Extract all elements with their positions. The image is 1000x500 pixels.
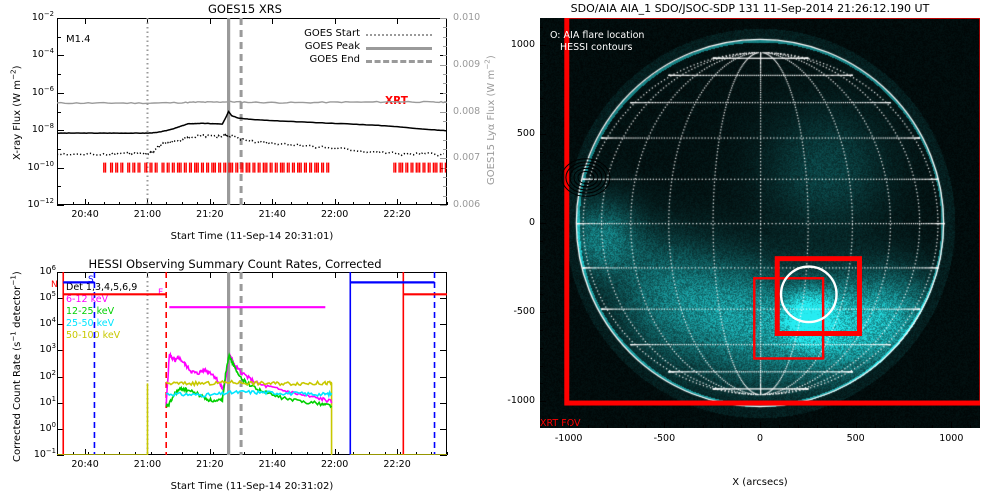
hessi-x-tick-label-0: 20:40 <box>61 459 109 470</box>
sun-y-tick-label-2: 0 <box>490 217 535 228</box>
sun-x-tick-minor <box>760 425 761 428</box>
hessi-contours-annotation: HESSI contours <box>560 42 633 53</box>
goes-x-tick-minor <box>447 202 448 205</box>
hessi-x-axis-label: Start Time (11-Sep-14 20:31:02) <box>57 481 447 492</box>
sun-x-tick-minor <box>588 425 589 428</box>
sun-y-tick-minor <box>540 366 543 367</box>
goes-y-axis-label: X-ray Flux (W m−2) <box>12 66 23 161</box>
sun-x-tick-minor <box>722 425 723 428</box>
goes-x-tick-label-1: 21:00 <box>123 209 171 220</box>
sun-x-tick-label-3: 500 <box>826 433 886 444</box>
sun-x-tick-minor <box>875 425 876 428</box>
goes-x-tick-label-5: 22:20 <box>373 209 421 220</box>
hessi-x-tick-label-4: 22:00 <box>311 459 359 470</box>
sdo-panel-title: SDO/AIA AIA_1 SDO/JSOC-SDP 131 11-Sep-20… <box>500 2 1000 15</box>
hessi-panel: HESSI Observing Summary Count Rates, Cor… <box>0 250 490 500</box>
goes-right-y-tick-label-1: 0.009 <box>453 59 480 70</box>
goes-right-y-tick-label-2: 0.008 <box>453 106 480 117</box>
hessi-panel-title: HESSI Observing Summary Count Rates, Cor… <box>0 257 470 271</box>
figure-root: GOES15 XRS 10−210−410−610−810−1010−12 0.… <box>0 0 1000 500</box>
sun-x-tick-minor <box>664 425 665 428</box>
sun-x-tick-minor <box>970 425 971 428</box>
hessi-x-tick-label-3: 21:40 <box>248 459 296 470</box>
sun-x-tick-label-0: -1000 <box>539 433 599 444</box>
sun-x-tick-minor <box>951 425 952 428</box>
sun-x-tick-label-2: 0 <box>730 433 790 444</box>
goes-y-tick-label-1: 10−4 <box>14 49 54 60</box>
sun-y-tick-minor <box>540 63 543 64</box>
goes-right-y-tick-minor <box>443 205 447 206</box>
sun-y-tick-minor <box>540 348 543 349</box>
sun-x-tick-minor <box>626 425 627 428</box>
sun-image-area <box>540 18 980 428</box>
goes-y-tick-label-0: 10−2 <box>14 12 54 23</box>
hessi-y-tick-7 <box>57 455 64 456</box>
goes-x-axis-label: Start Time (11-Sep-14 20:31:01) <box>57 231 447 242</box>
sun-x-tick-minor <box>856 425 857 428</box>
sun-y-tick-minor <box>540 223 543 224</box>
sun-y-tick-label-3: -500 <box>490 306 535 317</box>
sun-x-tick-label-4: 1000 <box>921 433 981 444</box>
sun-x-tick-label-1: -500 <box>634 433 694 444</box>
hessi-x-tick-label-5: 22:20 <box>373 459 421 470</box>
hessi-x-tick-label-2: 21:20 <box>186 459 234 470</box>
hessi-x-tick-label-1: 21:00 <box>123 459 171 470</box>
sun-y-tick-minor <box>540 80 543 81</box>
sun-x-tick-minor <box>741 425 742 428</box>
sun-overlays <box>540 18 980 428</box>
sun-x-tick-minor <box>798 425 799 428</box>
sun-x-tick-minor <box>817 425 818 428</box>
goes-right-y-tick-label-3: 0.007 <box>453 152 480 163</box>
sun-y-tick-minor <box>540 187 543 188</box>
sdo-aia-panel: SDO/AIA AIA_1 SDO/JSOC-SDP 131 11-Sep-20… <box>490 0 1000 500</box>
sun-y-tick-minor <box>540 205 543 206</box>
aia-flare-location-annotation: O: AIA flare location <box>550 30 644 41</box>
sun-y-tick-label-4: -1000 <box>490 395 535 406</box>
goes-y-tick-label-5: 10−12 <box>14 199 54 210</box>
goes-right-y-tick-label-0: 0.010 <box>453 12 480 23</box>
sun-y-tick-minor <box>540 312 543 313</box>
hessi-x-tick-minor <box>447 452 448 455</box>
goes-x-tick-label-0: 20:40 <box>61 209 109 220</box>
sun-y-tick-minor <box>540 401 543 402</box>
sun-x-tick-minor <box>645 425 646 428</box>
sun-y-tick-minor <box>540 259 543 260</box>
goes-data-curves <box>57 18 447 205</box>
sun-y-tick-minor <box>540 276 543 277</box>
sun-x-tick-minor <box>703 425 704 428</box>
sun-x-tick-minor <box>837 425 838 428</box>
sun-y-tick-minor <box>540 152 543 153</box>
sun-y-tick-minor <box>540 134 543 135</box>
sun-x-tick-minor <box>932 425 933 428</box>
sun-y-tick-minor <box>540 383 543 384</box>
sun-x-tick-minor <box>894 425 895 428</box>
hessi-y-tick-r-7 <box>440 455 447 456</box>
goes-x-tick-label-2: 21:20 <box>186 209 234 220</box>
sun-y-tick-minor <box>540 294 543 295</box>
sun-y-tick-minor <box>540 330 543 331</box>
sun-x-axis-label: X (arcsecs) <box>540 477 980 488</box>
sun-y-tick-label-0: 1000 <box>490 39 535 50</box>
sun-x-tick-minor <box>607 425 608 428</box>
goes-panel-title: GOES15 XRS <box>0 2 490 16</box>
goes-xrs-panel: GOES15 XRS 10−210−410−610−810−1010−12 0.… <box>0 0 490 250</box>
hessi-data-curves <box>57 272 447 455</box>
goes-x-tick-label-4: 22:00 <box>311 209 359 220</box>
sun-y-tick-minor <box>540 170 543 171</box>
goes-y-tick-minor--12 <box>57 205 61 206</box>
sun-y-tick-minor <box>540 45 543 46</box>
goes-x-tick-label-3: 21:40 <box>248 209 296 220</box>
sun-x-tick-minor <box>683 425 684 428</box>
sun-y-tick-minor <box>540 241 543 242</box>
sun-x-tick-minor <box>913 425 914 428</box>
sun-y-tick-minor <box>540 98 543 99</box>
sun-y-tick-label-1: 500 <box>490 128 535 139</box>
goes-y-tick-label-4: 10−10 <box>14 162 54 173</box>
hessi-y-axis-label: Corrected Count Rate (s−1 detector−1) <box>12 271 23 462</box>
sun-y-tick-minor <box>540 27 543 28</box>
sun-x-tick-minor <box>569 425 570 428</box>
sun-x-tick-minor <box>779 425 780 428</box>
xrt-fov-annotation: XRT FOV <box>540 418 581 429</box>
goes-right-y-tick-label-4: 0.006 <box>453 199 480 210</box>
sun-y-tick-minor <box>540 116 543 117</box>
